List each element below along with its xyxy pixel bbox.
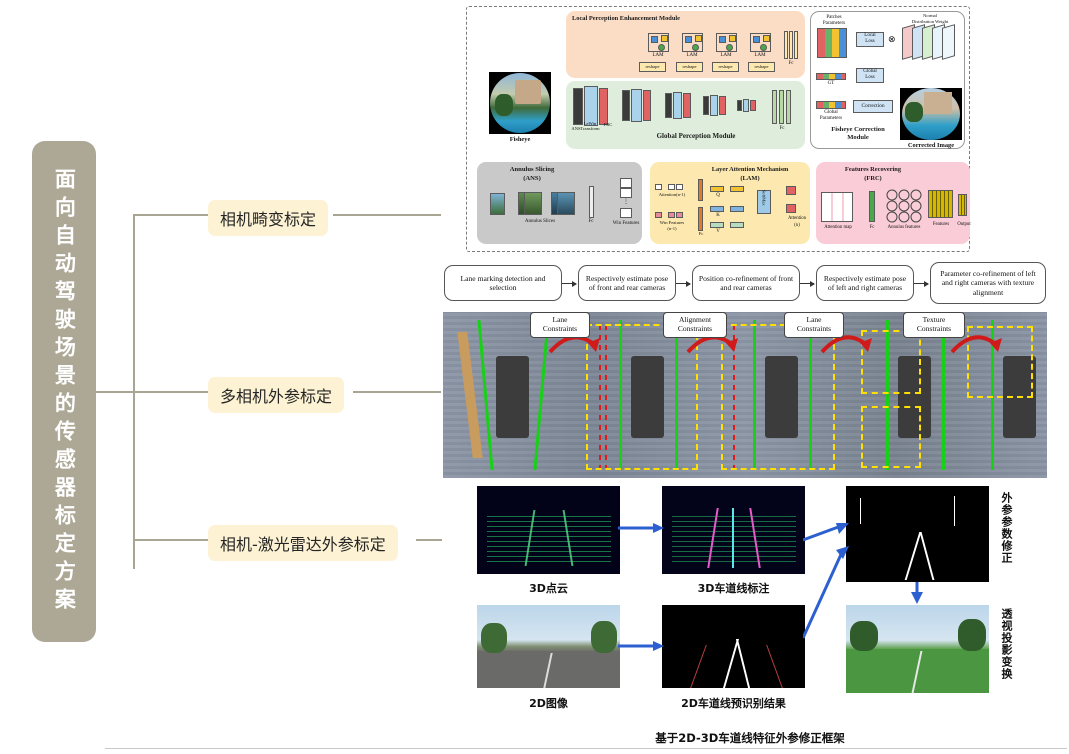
caption-lane-pre-recognition-2d: 2D车道线预识别结果	[662, 695, 805, 711]
pipeline-arrow-2	[676, 283, 690, 284]
lam-block-3-blue-tile	[719, 36, 726, 43]
global-loss-label-2: Loss	[856, 75, 884, 81]
frc-attention-map-label: Attention map	[814, 225, 862, 231]
frc-annulus-features-label: Annulus features	[876, 225, 932, 231]
frc-title-2: (FRC)	[818, 175, 928, 182]
ans-win-feature-2	[620, 188, 632, 198]
lam-block-3-green-dot	[726, 44, 733, 51]
lam-fc-bar-top	[698, 179, 703, 201]
connector-root-trunk	[96, 391, 134, 393]
lam-v-tile-a	[710, 222, 724, 228]
lam-block-1-green-dot	[658, 44, 665, 51]
footer-caption: 基于2D-3D车道线特征外参修正框架	[570, 730, 930, 746]
global-loss-label-1: Global	[856, 69, 884, 75]
patches-parameters-label-1: Patches	[812, 15, 856, 21]
ans-fc-label: Fc	[581, 219, 601, 225]
caption-lane-annotation-3d: 3D车道线标注	[662, 580, 805, 596]
reshape-label-3: reshape	[712, 64, 739, 69]
local-loss-label-2: Loss	[856, 39, 884, 45]
fisheye-correction-title-1: Fisheye Correction	[812, 126, 904, 133]
gp-stage2-blue	[631, 89, 642, 122]
gp-stage3-red	[683, 93, 691, 118]
arrow-image2d-to-prerecognition	[618, 638, 666, 654]
lam-attn-in-b	[668, 184, 675, 190]
constraint-4-line1: Texture	[908, 315, 960, 324]
pipeline-step-5-text: Parameter co-refinement of left and righ…	[935, 269, 1041, 297]
ans-win-feature-n	[620, 208, 632, 218]
lam-block-4-blue-tile	[753, 36, 760, 43]
ans-title-1: Annulus Slicing	[487, 166, 577, 173]
pipeline-step-4[interactable]: Respectively estimate pose of left and r…	[816, 265, 914, 301]
gp-stage5-red	[750, 100, 756, 111]
gp-frc-block	[599, 88, 608, 125]
caption-pointcloud-3d: 3D点云	[477, 580, 620, 596]
ans-input-slice	[490, 193, 505, 215]
connector-branch-2-out	[353, 391, 441, 393]
root-node[interactable]: 面向自动驾驶场景的传感器标定方案	[32, 141, 96, 642]
reshape-label-1: reshape	[639, 64, 666, 69]
lam-win-in-b	[668, 212, 675, 218]
ans-fc-bar	[589, 186, 594, 218]
pipeline-step-3[interactable]: Position co-refinement of front and rear…	[692, 265, 800, 301]
gp-ans-block	[573, 88, 583, 125]
perspective-transform-image	[846, 605, 989, 693]
footer-divider	[105, 748, 1067, 749]
gp-fc-bar-1	[772, 90, 777, 124]
lam-k-label: K	[712, 213, 724, 219]
corrected-output-image	[900, 88, 962, 140]
lpe-fc-bar-2	[789, 31, 793, 59]
arrow-pointcloud-to-annotation	[618, 520, 666, 536]
arrow-prerecognition-to-corrected	[803, 546, 851, 642]
frc-fc-bar	[869, 191, 875, 222]
corrected-image-label: Corrected Image	[898, 142, 964, 149]
lane-pre-recognition-2d-image	[662, 605, 805, 688]
label-perspective-transform: 透视投影变换	[998, 608, 1014, 680]
lam-title-1: Layer Attention Mechanism	[694, 166, 806, 173]
pipeline-step-5[interactable]: Parameter co-refinement of left and righ…	[930, 262, 1046, 304]
lam-block-1-blue-tile	[651, 36, 658, 43]
pipeline-step-2[interactable]: Respectively estimate pose of front and …	[578, 265, 676, 301]
lam-block-2-green-dot	[692, 44, 699, 51]
frc-title-1: Features Recovering	[818, 166, 928, 173]
lam-label-3: LAM	[711, 53, 741, 59]
lam-label-2: LAM	[677, 53, 707, 59]
lam-win-in-a	[655, 212, 662, 218]
root-node-title: 面向自动驾驶场景的传感器标定方案	[53, 168, 76, 616]
lpe-fc-label: Fc	[779, 61, 803, 67]
gp-stage4-dark	[703, 96, 709, 115]
frc-features-grid	[928, 190, 953, 218]
gt-label: GT	[816, 81, 846, 87]
image-2d	[477, 605, 620, 688]
pipeline-arrow-4	[914, 283, 928, 284]
frc-attention-map	[821, 192, 853, 222]
pipeline-arrow-3	[800, 283, 814, 284]
ans-ellipsis: ⋮	[620, 199, 632, 206]
lam-fc-label: Fc	[692, 231, 710, 236]
constraint-1-line1: Lane	[535, 315, 585, 324]
lam-attention-out-label-2: (n)	[780, 223, 814, 229]
gp-fc-bar-2	[779, 90, 784, 124]
lam-fc-bar-bottom	[698, 207, 703, 231]
gp-fc-label: Fc	[770, 126, 794, 132]
constraint-3-line1: Lane	[789, 315, 839, 324]
reshape-label-4: reshape	[748, 64, 775, 69]
arrow-annotation-to-corrected	[803, 520, 851, 548]
global-parameters-label-2: Parameters	[812, 116, 850, 122]
gp-lewin-block	[584, 86, 598, 126]
lam-softmax-label: SoftMax	[761, 185, 766, 211]
lam-title-2: (LAM)	[694, 175, 806, 182]
connector-branch-3-out	[416, 539, 442, 541]
local-loss-label-1: Local	[856, 33, 884, 39]
extrinsic-corrected-image	[846, 486, 989, 582]
gp-stage4-blue	[710, 95, 718, 116]
constraint-callout-lane-2[interactable]: Lane Constraints	[784, 312, 844, 338]
correction-label: Correction	[853, 103, 893, 109]
branch-2-text: 多相机外参标定	[220, 383, 332, 407]
connector-branch-1-out	[333, 214, 441, 216]
patches-parameters-label-2: Parameters	[808, 21, 860, 27]
lam-v-label: V	[712, 229, 724, 235]
branch-label-camera-lidar-extrinsic[interactable]: 相机-激光雷达外参标定	[208, 525, 398, 561]
constraint-callout-alignment[interactable]: Alignment Constraints	[663, 312, 727, 338]
gp-fc-bar-3	[786, 90, 791, 124]
lam-win-prev-label-1: Win Features	[650, 220, 694, 225]
gt-strip	[816, 73, 846, 80]
lam-k-tile-b	[730, 206, 744, 212]
constraint-1-line2: Constraints	[535, 324, 585, 333]
lam-block-2-yellow-tile	[695, 35, 702, 42]
branch-1-text: 相机畸变标定	[220, 206, 316, 230]
pipeline-step-1[interactable]: Lane marking detection and selection	[444, 265, 562, 301]
lane-annotation-3d-image	[662, 486, 805, 574]
lpe-fc-bar-1	[784, 31, 788, 59]
lam-label-1: LAM	[643, 53, 673, 59]
lam-attn-out-a	[786, 186, 796, 195]
normal-weight-label-2: Distribution Weight	[898, 19, 962, 24]
constraint-3-line2: Constraints	[789, 324, 839, 333]
lam-v-tile-b	[730, 222, 744, 228]
pipeline-step-4-text: Respectively estimate pose of left and r…	[821, 274, 909, 293]
ans-slice-b	[524, 192, 542, 215]
caption-image-2d: 2D图像	[477, 695, 620, 711]
connector-branch-3	[133, 539, 211, 541]
reshape-label-2: reshape	[676, 64, 703, 69]
multiply-icon: ⊗	[888, 34, 896, 45]
global-parameters-label-1: Global	[814, 110, 848, 116]
pipeline-arrow-1	[562, 283, 576, 284]
lpe-module-title: Local Perception Enhancement Module	[572, 15, 732, 22]
ans-slice-d	[557, 192, 575, 215]
ans-win-feature-1	[620, 178, 632, 188]
pointcloud-3d-image	[477, 486, 620, 574]
arrow-corrected-to-perspective	[908, 582, 926, 606]
gp-stage4-red	[719, 96, 726, 115]
lam-attn-out-b	[786, 204, 796, 213]
gp-stage2-red	[643, 90, 651, 121]
lam-label-4: LAM	[745, 53, 775, 59]
ans-title-2: (ANS)	[487, 175, 577, 182]
lam-q-tile-a	[710, 186, 724, 192]
gp-stage2-dark	[622, 90, 630, 121]
gp-stage5-blue	[743, 99, 749, 112]
gp-module-title: Global Perception Module	[626, 133, 766, 141]
ndw-plane-5	[942, 24, 955, 60]
lam-block-4-green-dot	[760, 44, 767, 51]
lam-attn-in-c	[676, 184, 683, 190]
constraint-4-line2: Constraints	[908, 324, 960, 333]
lam-q-tile-b	[730, 186, 744, 192]
branch-label-camera-distortion[interactable]: 相机畸变标定	[208, 200, 328, 236]
lam-block-4-yellow-tile	[763, 35, 770, 42]
lam-attention-out-label-1: Attention	[780, 216, 814, 222]
frc-output-grid	[958, 194, 967, 216]
lam-block-1-yellow-tile	[661, 35, 668, 42]
annulus-slices-label: Annulus Slices	[505, 219, 575, 225]
global-parameters-strip	[816, 101, 846, 109]
fisheye-input-image	[489, 72, 551, 134]
constraint-2-line2: Constraints	[668, 324, 722, 333]
frc-annulus-features-icon	[885, 189, 923, 223]
lam-win-prev-label-2: (n-1)	[650, 226, 694, 231]
gp-stage5-dark	[737, 100, 742, 111]
normal-weight-label-1: Normal	[900, 13, 960, 18]
lam-attention-prev-label: Attention(n-1)	[650, 192, 694, 197]
ans-win-features-label: Win Features	[602, 221, 650, 227]
patches-parameters-grid	[817, 28, 847, 58]
constraint-callout-lane-1[interactable]: Lane Constraints	[530, 312, 590, 338]
lam-block-3-yellow-tile	[729, 35, 736, 42]
lam-q-label: Q	[712, 193, 724, 199]
branch-3-text: 相机-激光雷达外参标定	[220, 531, 386, 555]
pipeline-step-1-text: Lane marking detection and selection	[449, 274, 557, 293]
lpe-fc-bar-3	[794, 31, 798, 59]
gp-stage3-blue	[673, 92, 682, 119]
frc-output-label: Output	[953, 222, 975, 228]
fisheye-input-label: Fisheye	[489, 136, 551, 143]
connector-branch-1	[133, 214, 211, 216]
constraint-2-line1: Alignment	[668, 315, 722, 324]
fisheye-correction-title-2: Module	[812, 134, 904, 141]
constraint-callout-texture[interactable]: Texture Constraints	[903, 312, 965, 338]
lam-k-tile-a	[710, 206, 724, 212]
lam-win-in-c	[676, 212, 683, 218]
branch-label-multicam-extrinsic[interactable]: 多相机外参标定	[208, 377, 344, 413]
pipeline-step-2-text: Respectively estimate pose of front and …	[583, 274, 671, 293]
connector-branch-2	[133, 391, 211, 393]
gp-stage3-dark	[665, 93, 672, 118]
pipeline-step-3-text: Position co-refinement of front and rear…	[697, 274, 795, 293]
lam-block-2-blue-tile	[685, 36, 692, 43]
lam-attn-in-a	[655, 184, 662, 190]
label-extrinsic-correction: 外参参数修正	[998, 492, 1014, 564]
gp-frc-label: FRC	[600, 122, 616, 127]
